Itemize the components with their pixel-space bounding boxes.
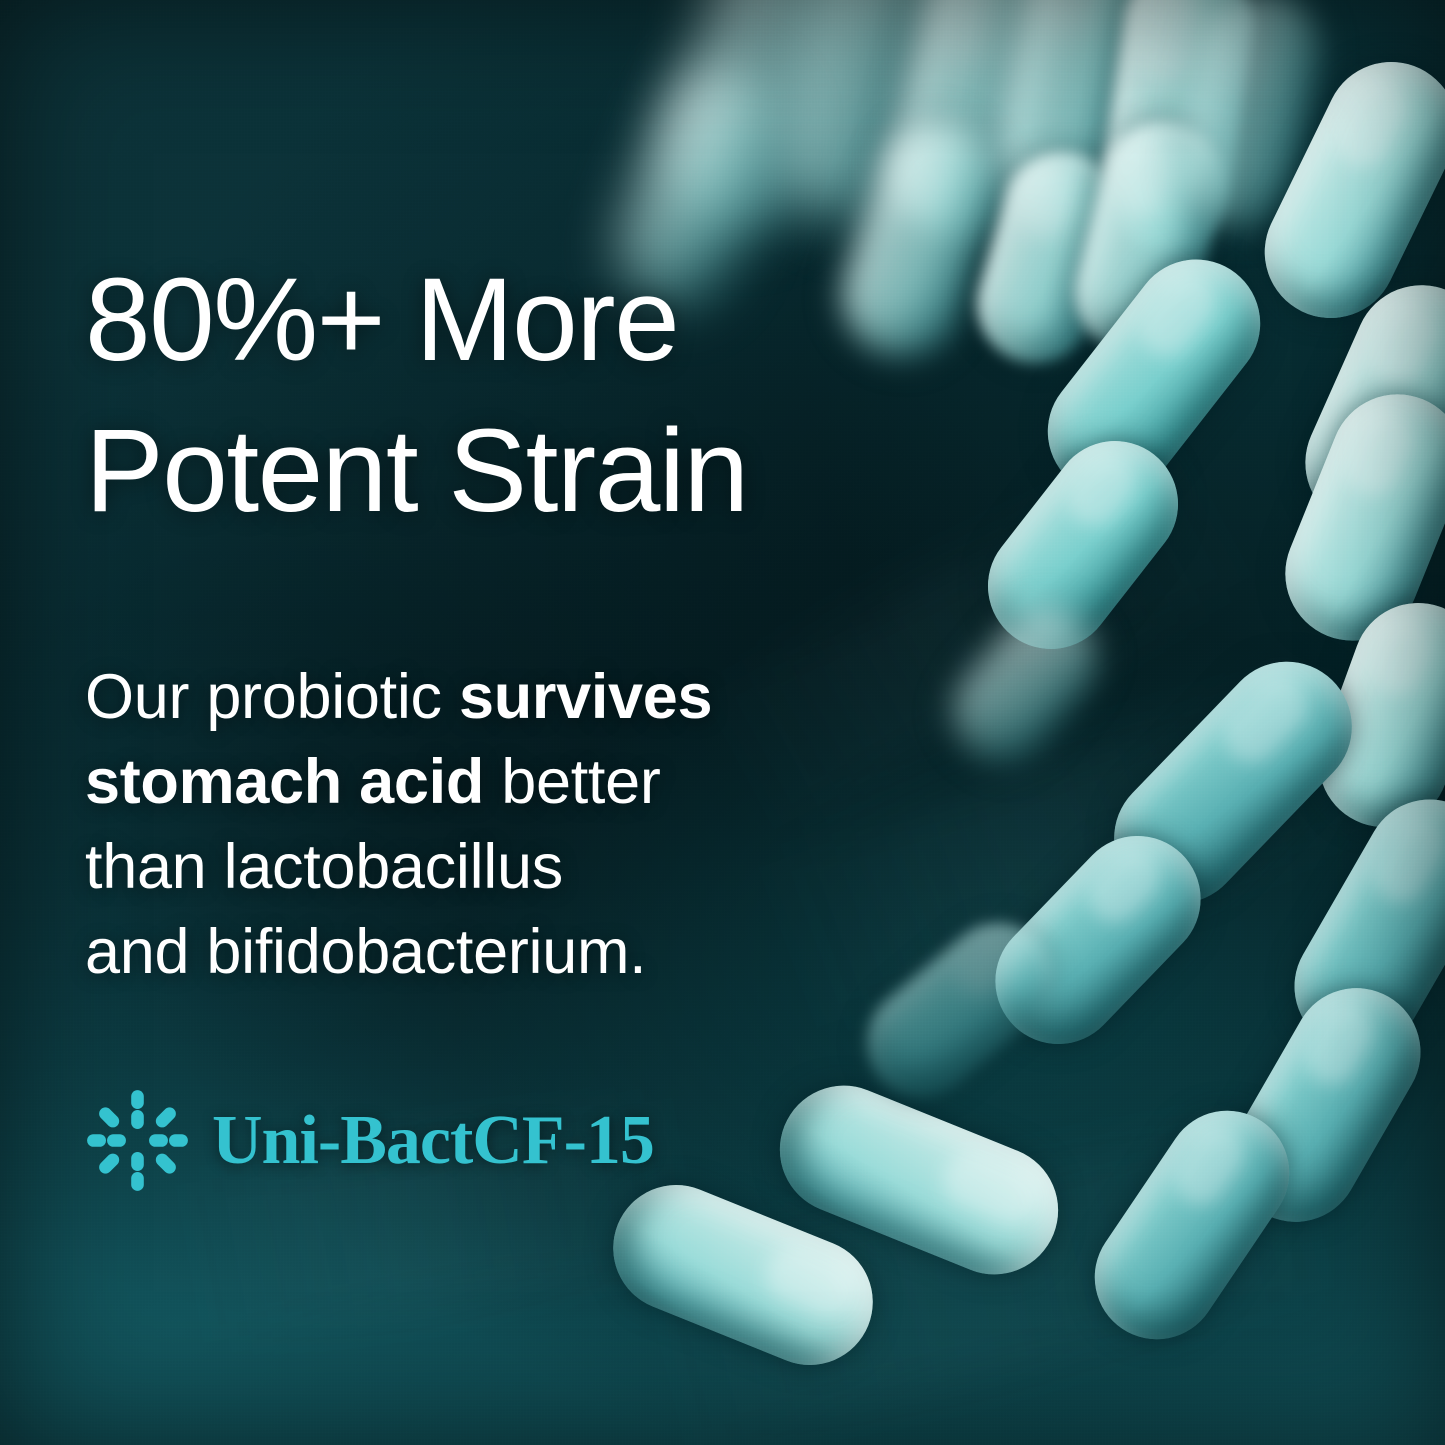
body-line-1-pre: Our probiotic xyxy=(85,662,459,732)
body-line-3: than lactobacillus xyxy=(85,825,915,910)
bacteria-burst-icon xyxy=(85,1088,190,1193)
brand-logo: Uni-BactCF-15 xyxy=(85,1088,654,1193)
headline-line-2: Potent Strain xyxy=(85,396,995,547)
body-copy: Our probiotic survives stomach acid bett… xyxy=(85,655,915,995)
headline-line-1: 80%+ More xyxy=(85,245,995,396)
body-line-2: stomach acid better xyxy=(85,740,915,825)
body-line-1: Our probiotic survives xyxy=(85,655,915,740)
body-line-2-post: better xyxy=(484,747,661,817)
headline: 80%+ More Potent Strain xyxy=(85,245,995,547)
body-line-4: and bifidobacterium. xyxy=(85,910,915,995)
brand-wordmark: Uni-BactCF-15 xyxy=(212,1106,654,1176)
body-line-1-bold: survives xyxy=(459,662,712,732)
body-line-2-bold: stomach acid xyxy=(85,747,484,817)
promo-image-canvas: 80%+ More Potent Strain Our probiotic su… xyxy=(0,0,1445,1445)
